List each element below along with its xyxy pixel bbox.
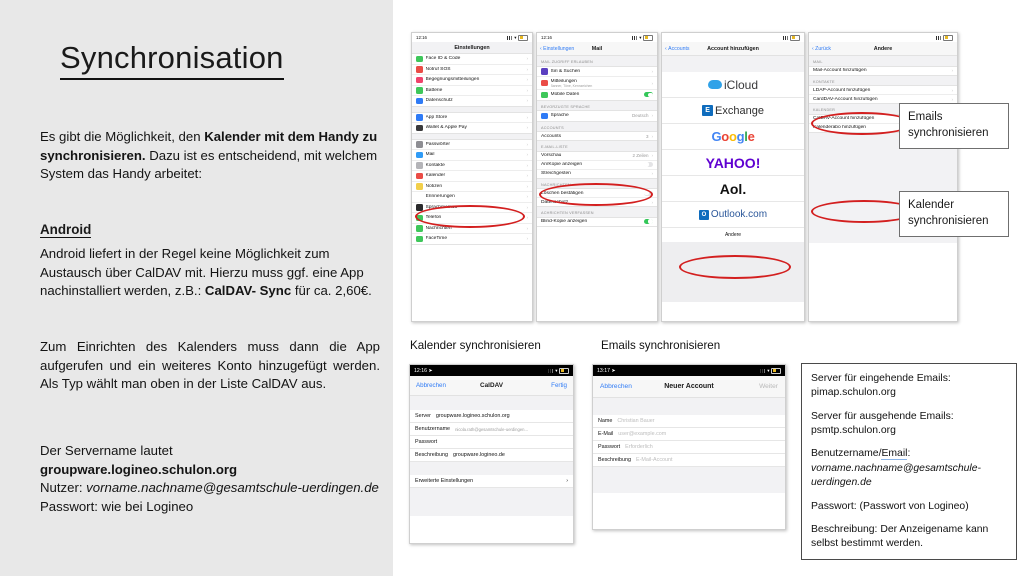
status-bar: 13:17 ➤ ▾ [593, 365, 785, 376]
chevron-right-icon: › [526, 194, 528, 199]
settings-row[interactable]: Face ID & Code› [412, 54, 532, 65]
nav-bar: ‹ Zurück Andere [809, 42, 957, 56]
android-p1-bold: CalDAV- Sync [205, 283, 291, 298]
settings-row[interactable]: Wallet & Apple Pay› [412, 123, 532, 133]
provider-list: iCloud EExchange Google YAHOO! Aol. OOut… [662, 72, 804, 242]
settings-row[interactable]: Datenschutz› [412, 96, 532, 106]
chevron-right-icon: › [651, 134, 653, 139]
nav-bar: ‹ Accounts Account hinzufügen [662, 42, 804, 56]
app-icon [541, 80, 548, 87]
settings-row-label: Kontakte [426, 163, 524, 168]
settings-group: Vorschau2 Zeilen›An/Kopie anzeigenStreic… [537, 151, 657, 179]
settings-row-value: 2 Zeilen [632, 153, 648, 158]
settings-row-label: Notruf SOS [426, 67, 524, 72]
row-label: LDAP-Account hinzufügen [813, 88, 948, 93]
form-field-row[interactable]: Passwort [410, 436, 573, 449]
settings-group: Blind-Kopie anzeigen [537, 217, 657, 227]
signal-icon [632, 36, 638, 40]
server-line-1: Der Servername lautet [40, 443, 173, 458]
info-password: Passwort: (Passwort von Logineo) [811, 500, 1007, 514]
apple-panel: Apple 12:16 ▾ Einstellungen Face ID & Co… [393, 0, 1024, 576]
provider-yahoo[interactable]: YAHOO! [662, 150, 804, 176]
back-label: Zurück [815, 46, 831, 52]
settings-row[interactable]: Vorschau2 Zeilen› [537, 152, 657, 161]
field-value[interactable]: groupware.logineo.de [453, 452, 505, 458]
screen-title: Account hinzufügen [707, 46, 759, 52]
done-button[interactable]: Fertig [551, 382, 567, 389]
settings-group: Löschen bestätigenDatenschutz› [537, 188, 657, 207]
caption-emails-synchronisieren: Emails synchronisieren [601, 339, 720, 352]
caption-kalender-synchronisieren: Kalender synchronisieren [410, 339, 541, 352]
info-username-value: vorname.nachname@gesamtschule-uerdingen.… [811, 463, 981, 488]
settings-row[interactable]: Telefon› [412, 213, 532, 224]
settings-row-label: Telefon [426, 215, 524, 220]
provider-andere[interactable]: Andere [662, 228, 804, 242]
battery-icon [518, 35, 528, 41]
field-value[interactable]: Christian Bauer [617, 418, 654, 424]
status-bar: 12:16 ➤ ▾ [410, 365, 573, 376]
app-icon [416, 162, 423, 169]
row-label: Mail-Account hinzufügen [813, 68, 948, 73]
chevron-right-icon: › [526, 67, 528, 72]
settings-row-subtitle: Banner, Töne, Kennzeichen [551, 84, 649, 88]
settings-row-label: Nachrichten [426, 226, 524, 231]
chevron-right-icon: › [526, 163, 528, 168]
android-paragraph-1: Android liefert in der Regel keine Mögli… [40, 245, 380, 301]
settings-row[interactable]: Accounts3› [537, 132, 657, 140]
chevron-right-icon: › [526, 56, 528, 61]
field-value[interactable]: nicola.rath@gesamtschule-uerdingen... [455, 427, 528, 432]
field-label: E-Mail [598, 431, 613, 437]
callout-emails-synchronisieren: Emails synchronisieren [899, 103, 1009, 149]
provider-aol[interactable]: Aol. [662, 176, 804, 202]
chevron-right-icon: › [526, 173, 528, 178]
app-icon [541, 68, 548, 75]
chevron-right-icon: › [526, 152, 528, 157]
signal-icon [507, 36, 513, 40]
form-field-row[interactable]: Servergroupware.logineo.schulon.org [410, 410, 573, 423]
settings-row-label: Sprachmemos [426, 205, 524, 210]
chevron-right-icon: › [526, 77, 528, 82]
settings-row[interactable]: App Store› [412, 113, 532, 124]
settings-row-label: Vorschau [541, 153, 629, 158]
screen-title: Mail [592, 46, 602, 52]
chevron-right-icon: › [651, 200, 653, 205]
info-outgoing-label: Server für ausgehende Emails: [811, 411, 954, 422]
field-value[interactable]: E-Mail-Account [636, 457, 673, 463]
spacer [593, 398, 785, 415]
phone-screenshot-caldav: 12:16 ➤ ▾ Abbrechen CalDAV Fertig Server… [409, 364, 574, 544]
settings-row-label: FaceTime [426, 236, 524, 241]
chevron-right-icon: › [951, 88, 953, 93]
info-username-label: Benutzername/ [811, 448, 881, 459]
section-header: ACHRICHTEN VERFASSEN [537, 207, 657, 217]
page-title: Synchronisation [60, 40, 284, 80]
battery-icon [771, 368, 781, 374]
cancel-button[interactable]: Abbrechen [416, 382, 446, 389]
field-value[interactable]: Erforderlich [625, 444, 653, 450]
settings-row[interactable]: Mobile Daten [537, 90, 657, 100]
info-description: Beschreibung: Der Anzeigename kann selbs… [811, 523, 1007, 552]
section-header: MAIL ZUGRIFF ERLAUBEN [537, 56, 657, 66]
settings-row[interactable]: Kalender› [412, 171, 532, 182]
phone-screenshot-account-hinzufuegen: ‹ Accounts Account hinzufügen iCloud EEx… [661, 32, 805, 322]
settings-row-value: Deutsch [632, 113, 649, 118]
settings-row[interactable]: Siri & Suchen› [537, 67, 657, 78]
android-p1-b: für ca. 2,60€. [291, 283, 372, 298]
chevron-right-icon: › [526, 125, 528, 130]
row-mail-account[interactable]: Mail-Account hinzufügen › [809, 67, 957, 75]
nav-bar: ‹ Einstellungen Mail [537, 42, 657, 56]
settings-row[interactable]: SpracheDeutsch› [537, 111, 657, 121]
info-outgoing-value: psmtp.schulon.org [811, 425, 896, 436]
field-value[interactable]: user@example.com [618, 431, 666, 437]
callout-kalender-synchronisieren: Kalender synchronisieren [899, 191, 1009, 237]
settings-group: Accounts3› [537, 131, 657, 141]
wifi-icon: ▾ [555, 368, 557, 374]
settings-row-label: Mobile Daten [551, 92, 642, 97]
provider-label: Aol. [720, 181, 746, 197]
field-label: Passwort [415, 439, 437, 445]
status-bar: 12:16 ▾ [537, 33, 657, 42]
app-icon [416, 173, 423, 180]
intro-paragraph: Es gibt die Möglichkeit, den Kalender mi… [40, 128, 380, 184]
info-incoming-value: pimap.schulon.org [811, 387, 896, 398]
settings-row[interactable]: Erinnerungen› [412, 192, 532, 203]
app-icon [416, 77, 423, 84]
settings-row-label: Erinnerungen [426, 194, 524, 199]
provider-icloud[interactable]: iCloud [662, 72, 804, 98]
chevron-right-icon: › [526, 98, 528, 103]
settings-group: SpracheDeutsch› [537, 110, 657, 122]
settings-row-label: Kalender [426, 173, 524, 178]
chevron-right-icon: › [651, 153, 653, 158]
time-label: 12:16 [414, 368, 427, 374]
field-value[interactable]: groupware.logineo.schulon.org [436, 413, 510, 419]
form-field-row[interactable]: PasswortErforderlich [593, 441, 785, 454]
back-button[interactable]: ‹ Accounts [665, 46, 690, 52]
chevron-right-icon: › [566, 478, 568, 484]
info-incoming-label: Server für eingehende Emails: [811, 373, 951, 384]
settings-row-label: App Store [426, 115, 524, 120]
chevron-right-icon: › [951, 68, 953, 73]
spacer [410, 396, 573, 410]
info-incoming: Server für eingehende Emails: pimap.schu… [811, 372, 1007, 401]
settings-row[interactable]: FaceTime› [412, 234, 532, 244]
settings-list: Face ID & Code›Notruf SOS›Begegnungsmitt… [412, 53, 532, 245]
battery-icon [643, 35, 653, 41]
chevron-right-icon: › [526, 205, 528, 210]
app-icon [416, 225, 423, 232]
back-label: Einstellungen [543, 46, 574, 52]
chevron-right-icon: › [526, 184, 528, 189]
field-label: Name [598, 418, 612, 424]
provider-google[interactable]: Google [662, 124, 804, 150]
app-icon [416, 215, 423, 222]
form-field-row[interactable]: Beschreibunggroupware.logineo.de [410, 449, 573, 462]
left-text-column: Synchronisation Es gibt die Möglichkeit,… [0, 0, 400, 576]
settings-row[interactable]: MitteilungenBanner, Töne, Kennzeichen› [537, 77, 657, 90]
status-icons: ▾ [632, 35, 653, 41]
time-label: 13:17 [597, 368, 610, 374]
spacer [410, 462, 573, 475]
chevron-right-icon: › [651, 81, 653, 86]
app-icon [416, 125, 423, 132]
phone-screenshot-einstellungen: 12:16 ▾ Einstellungen Face ID & Code›Not… [411, 32, 533, 322]
field-label: Passwort [598, 444, 620, 450]
group-kontakte: LDAP-Account hinzufügen›CardDAV-Account … [809, 85, 957, 104]
section-header: BEVORZUGTE SPRACHE [537, 101, 657, 111]
server-password-note: Passwort: wie bei Logineo [40, 499, 193, 514]
server-info-paragraph: Der Servername lautet groupware.logineo.… [40, 442, 380, 517]
settings-row-label: Begegnungsmitteilungen [426, 77, 524, 82]
phone-screenshot-mail: 12:16 ▾ ‹ Einstellungen Mail MAIL ZUGRIF… [536, 32, 658, 322]
chevron-right-icon: › [526, 226, 528, 231]
status-bar [809, 33, 957, 42]
provider-label: YAHOO! [706, 155, 761, 171]
status-time [666, 35, 667, 40]
settings-row[interactable]: Sprachmemos› [412, 203, 532, 214]
settings-row[interactable]: Nachrichten› [412, 224, 532, 235]
chevron-right-icon: › [526, 115, 528, 120]
group-mail: Mail-Account hinzufügen › [809, 66, 957, 76]
chevron-right-icon: › [526, 236, 528, 241]
settings-row-label: Accounts [541, 134, 643, 139]
settings-row[interactable]: Passwörter› [412, 140, 532, 151]
settings-row[interactable]: CardDAV-Account hinzufügen› [809, 95, 957, 103]
info-username-colon: : [907, 448, 910, 459]
form-field-row[interactable]: BeschreibungE-Mail-Account [593, 454, 785, 467]
form-field-row[interactable]: E-Mailuser@example.com [593, 428, 785, 441]
app-icon [416, 87, 423, 94]
screen-title: Andere [874, 46, 893, 52]
info-username-link[interactable]: Email [881, 448, 907, 460]
section-header-kontakte: KONTAKTE [809, 76, 957, 86]
form-field-row[interactable]: NameChristian Bauer [593, 415, 785, 428]
provider-label: Exchange [715, 105, 764, 117]
back-label: Accounts [668, 46, 689, 52]
status-icons [783, 35, 801, 41]
chevron-right-icon: › [651, 113, 653, 118]
settings-row-label: Datenschutz [541, 200, 648, 205]
settings-row-label: Datenschutz [426, 98, 524, 103]
settings-row-label: Streichgesten [541, 171, 648, 176]
field-label: Beschreibung [415, 452, 448, 458]
settings-row[interactable]: Datenschutz› [537, 198, 657, 206]
settings-row[interactable]: Blind-Kopie anzeigen [537, 218, 657, 226]
list-filler [410, 488, 573, 516]
list-filler [662, 242, 804, 302]
signal-icon [548, 369, 554, 373]
chevron-right-icon: › [651, 171, 653, 176]
provider-label: Google [711, 129, 754, 144]
section-header: NACHRICHTEN [537, 179, 657, 189]
settings-row[interactable]: Streichgesten› [537, 170, 657, 178]
settings-row[interactable]: An/Kopie anzeigen [537, 161, 657, 170]
app-icon [416, 183, 423, 190]
status-icons: ▾ [760, 368, 781, 374]
screen-title: CalDAV [480, 382, 503, 389]
status-time: 12:16 [541, 35, 552, 40]
chevron-right-icon: › [651, 69, 653, 74]
settings-row[interactable]: Löschen bestätigen [537, 189, 657, 198]
back-button[interactable]: ‹ Zurück [812, 46, 831, 52]
newaccount-form: NameChristian BauerE-Mailuser@example.co… [593, 415, 785, 467]
status-time: 12:16 ➤ [414, 368, 433, 374]
app-icon [416, 114, 423, 121]
wifi-icon: ▾ [639, 35, 641, 41]
settings-row[interactable]: LDAP-Account hinzufügen› [809, 86, 957, 95]
status-bar [662, 33, 804, 42]
field-label: Server [415, 413, 431, 419]
form-field-row[interactable]: Benutzernamenicola.rath@gesamtschule-uer… [410, 423, 573, 436]
app-icon [416, 194, 423, 201]
settings-row-label: An/Kopie anzeigen [541, 162, 641, 167]
phone-screenshot-andere: ‹ Zurück Andere MAIL Mail-Account hinzuf… [808, 32, 958, 322]
outlook-icon: O [699, 210, 709, 220]
app-icon [416, 236, 423, 243]
signal-icon [936, 36, 942, 40]
toggle-switch[interactable] [644, 191, 653, 196]
settings-row-label: Notizen [426, 184, 524, 189]
settings-row-label: Blind-Kopie anzeigen [541, 219, 641, 224]
settings-row-label: Sprache [551, 113, 629, 118]
app-icon [416, 56, 423, 63]
wifi-icon: ▾ [514, 35, 516, 41]
app-icon [541, 113, 548, 120]
provider-label: iCloud [724, 78, 758, 92]
spacer [662, 56, 804, 72]
settings-row[interactable]: Notruf SOS› [412, 65, 532, 76]
toggle-switch[interactable] [644, 92, 653, 97]
list-filler [593, 467, 785, 493]
chevron-right-icon: › [526, 142, 528, 147]
settings-group-1: Face ID & Code›Notruf SOS›Begegnungsmitt… [412, 53, 532, 107]
settings-group: Siri & Suchen›MitteilungenBanner, Töne, … [537, 66, 657, 101]
settings-row-label: Wallet & Apple Pay [426, 125, 524, 130]
signal-icon [783, 36, 789, 40]
row-label: Erweiterte Einstellungen [415, 478, 473, 484]
exchange-icon: E [702, 105, 713, 116]
nav-bar: Abbrechen CalDAV Fertig [410, 376, 573, 396]
android-heading: Android [40, 222, 91, 238]
email-server-info-box: Server für eingehende Emails: pimap.schu… [801, 363, 1017, 560]
icloud-icon [708, 80, 722, 89]
settings-row-label: Passwörter [426, 142, 524, 147]
settings-row-label: Mail [426, 152, 524, 157]
settings-row[interactable]: Mail› [412, 150, 532, 161]
settings-row[interactable]: Kontakte› [412, 161, 532, 172]
nav-bar: Abbrechen Neuer Account Weiter [593, 376, 785, 398]
screen-title: Einstellungen [412, 42, 532, 53]
provider-label: Outlook.com [711, 209, 767, 220]
provider-exchange[interactable]: EExchange [662, 98, 804, 124]
status-icons: ▾ [548, 368, 569, 374]
settings-row-label: MitteilungenBanner, Töne, Kennzeichen [551, 79, 649, 88]
battery-icon [790, 35, 800, 41]
status-time: 13:17 ➤ [597, 368, 616, 374]
settings-row[interactable]: Batterie› [412, 86, 532, 97]
toggle-switch[interactable] [644, 162, 653, 167]
app-icon [416, 98, 423, 105]
row-label: CardDAV-Account hinzufügen [813, 97, 948, 102]
server-user-label: Nutzer: [40, 480, 86, 495]
chevron-right-icon: › [526, 215, 528, 220]
field-label: Beschreibung [598, 457, 631, 463]
app-icon [541, 92, 548, 99]
settings-row-label: Batterie [426, 88, 524, 93]
screen-title: Neuer Account [664, 383, 714, 390]
status-icons [936, 35, 954, 41]
section-header-mail: MAIL [809, 56, 957, 66]
back-button[interactable]: ‹ Einstellungen [540, 46, 574, 52]
battery-icon [559, 368, 569, 374]
caldav-form: Servergroupware.logineo.schulon.orgBenut… [410, 410, 573, 462]
server-name: groupware.logineo.schulon.org [40, 462, 237, 477]
app-icon [416, 152, 423, 159]
settings-row[interactable]: Notizen› [412, 182, 532, 193]
signal-icon [760, 369, 766, 373]
section-header: E-MAIL-LISTE [537, 141, 657, 151]
status-time: 12:16 [416, 35, 427, 40]
settings-row-label: Siri & Suchen [551, 69, 649, 74]
cancel-button[interactable]: Abbrechen [600, 383, 632, 390]
next-button[interactable]: Weiter [759, 383, 778, 390]
settings-row[interactable]: Begegnungsmitteilungen› [412, 75, 532, 86]
settings-row-label: Löschen bestätigen [541, 191, 641, 196]
phone-screenshot-neuer-account: 13:17 ➤ ▾ Abbrechen Neuer Account Weiter… [592, 364, 786, 530]
app-icon [416, 141, 423, 148]
settings-row-value: 3 [646, 134, 649, 139]
settings-row-label: Face ID & Code [426, 56, 524, 61]
info-username: Benutzername/Email: vorname.nachname@ges… [811, 447, 1007, 490]
status-bar: 12:16 ▾ [412, 33, 532, 42]
android-paragraph-2: Zum Einrichten des Kalenders muss dann d… [40, 338, 380, 394]
chevron-right-icon: › [951, 97, 953, 102]
slide-root: Synchronisation Es gibt die Möglichkeit,… [0, 0, 1024, 576]
info-outgoing: Server für ausgehende Emails: psmtp.schu… [811, 410, 1007, 439]
status-icons: ▾ [507, 35, 528, 41]
settings-group-2: App Store›Wallet & Apple Pay› [412, 112, 532, 134]
field-label: Benutzername [415, 426, 450, 432]
battery-icon [943, 35, 953, 41]
wifi-icon: ▾ [767, 368, 769, 374]
provider-outlook[interactable]: OOutlook.com [662, 202, 804, 228]
toggle-switch[interactable] [644, 219, 653, 224]
section-header: ACCOUNTS [537, 122, 657, 132]
settings-group-3: Passwörter›Mail›Kontakte›Kalender›Notize… [412, 139, 532, 245]
intro-text-1: Es gibt die Möglichkeit, den [40, 129, 204, 144]
chevron-right-icon: › [526, 88, 528, 93]
app-icon [416, 204, 423, 211]
app-icon [416, 66, 423, 73]
row-erweiterte-einstellungen[interactable]: Erweiterte Einstellungen › [410, 475, 573, 488]
status-time [813, 35, 814, 40]
mail-settings-list: MAIL ZUGRIFF ERLAUBENSiri & Suchen›Mitte… [537, 56, 657, 227]
server-user-value: vorname.nachname@gesamtschule-uerdingen.… [86, 480, 379, 495]
